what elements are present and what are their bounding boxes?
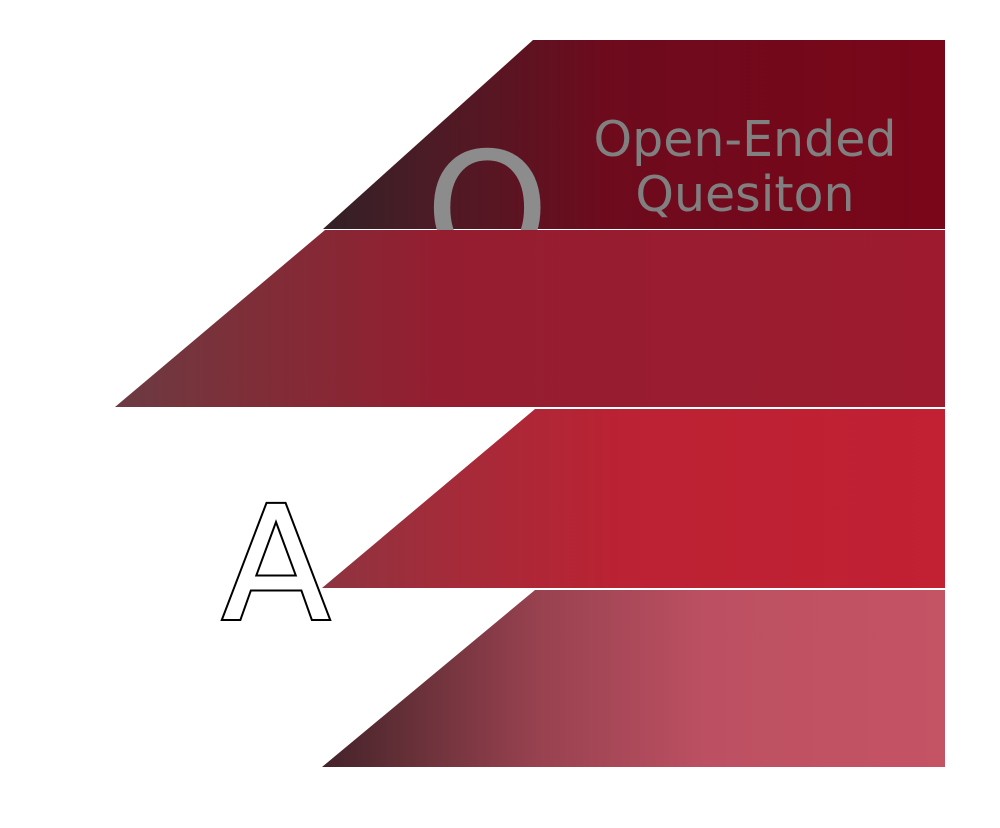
band-affirmation-shape (0, 230, 1000, 407)
band-summarize-polygon (322, 590, 945, 767)
band-open-ended-shape (0, 40, 1000, 229)
oars-diagram: O Open-Ended Quesiton A Affirmation (0, 0, 1000, 828)
band-open-ended-question[interactable]: O Open-Ended Quesiton (0, 40, 1000, 229)
band-summarize-shape (0, 590, 1000, 767)
band-reflection[interactable]: R Reflection (0, 409, 1000, 588)
band-affirmation[interactable]: A Affirmation (0, 230, 1000, 407)
band-reflection-polygon (322, 409, 945, 588)
band-reflection-shape (0, 409, 1000, 588)
band-open-ended-polygon (323, 40, 945, 229)
band-affirmation-polygon (115, 230, 945, 407)
band-summarize[interactable]: S Summarize (0, 590, 1000, 767)
